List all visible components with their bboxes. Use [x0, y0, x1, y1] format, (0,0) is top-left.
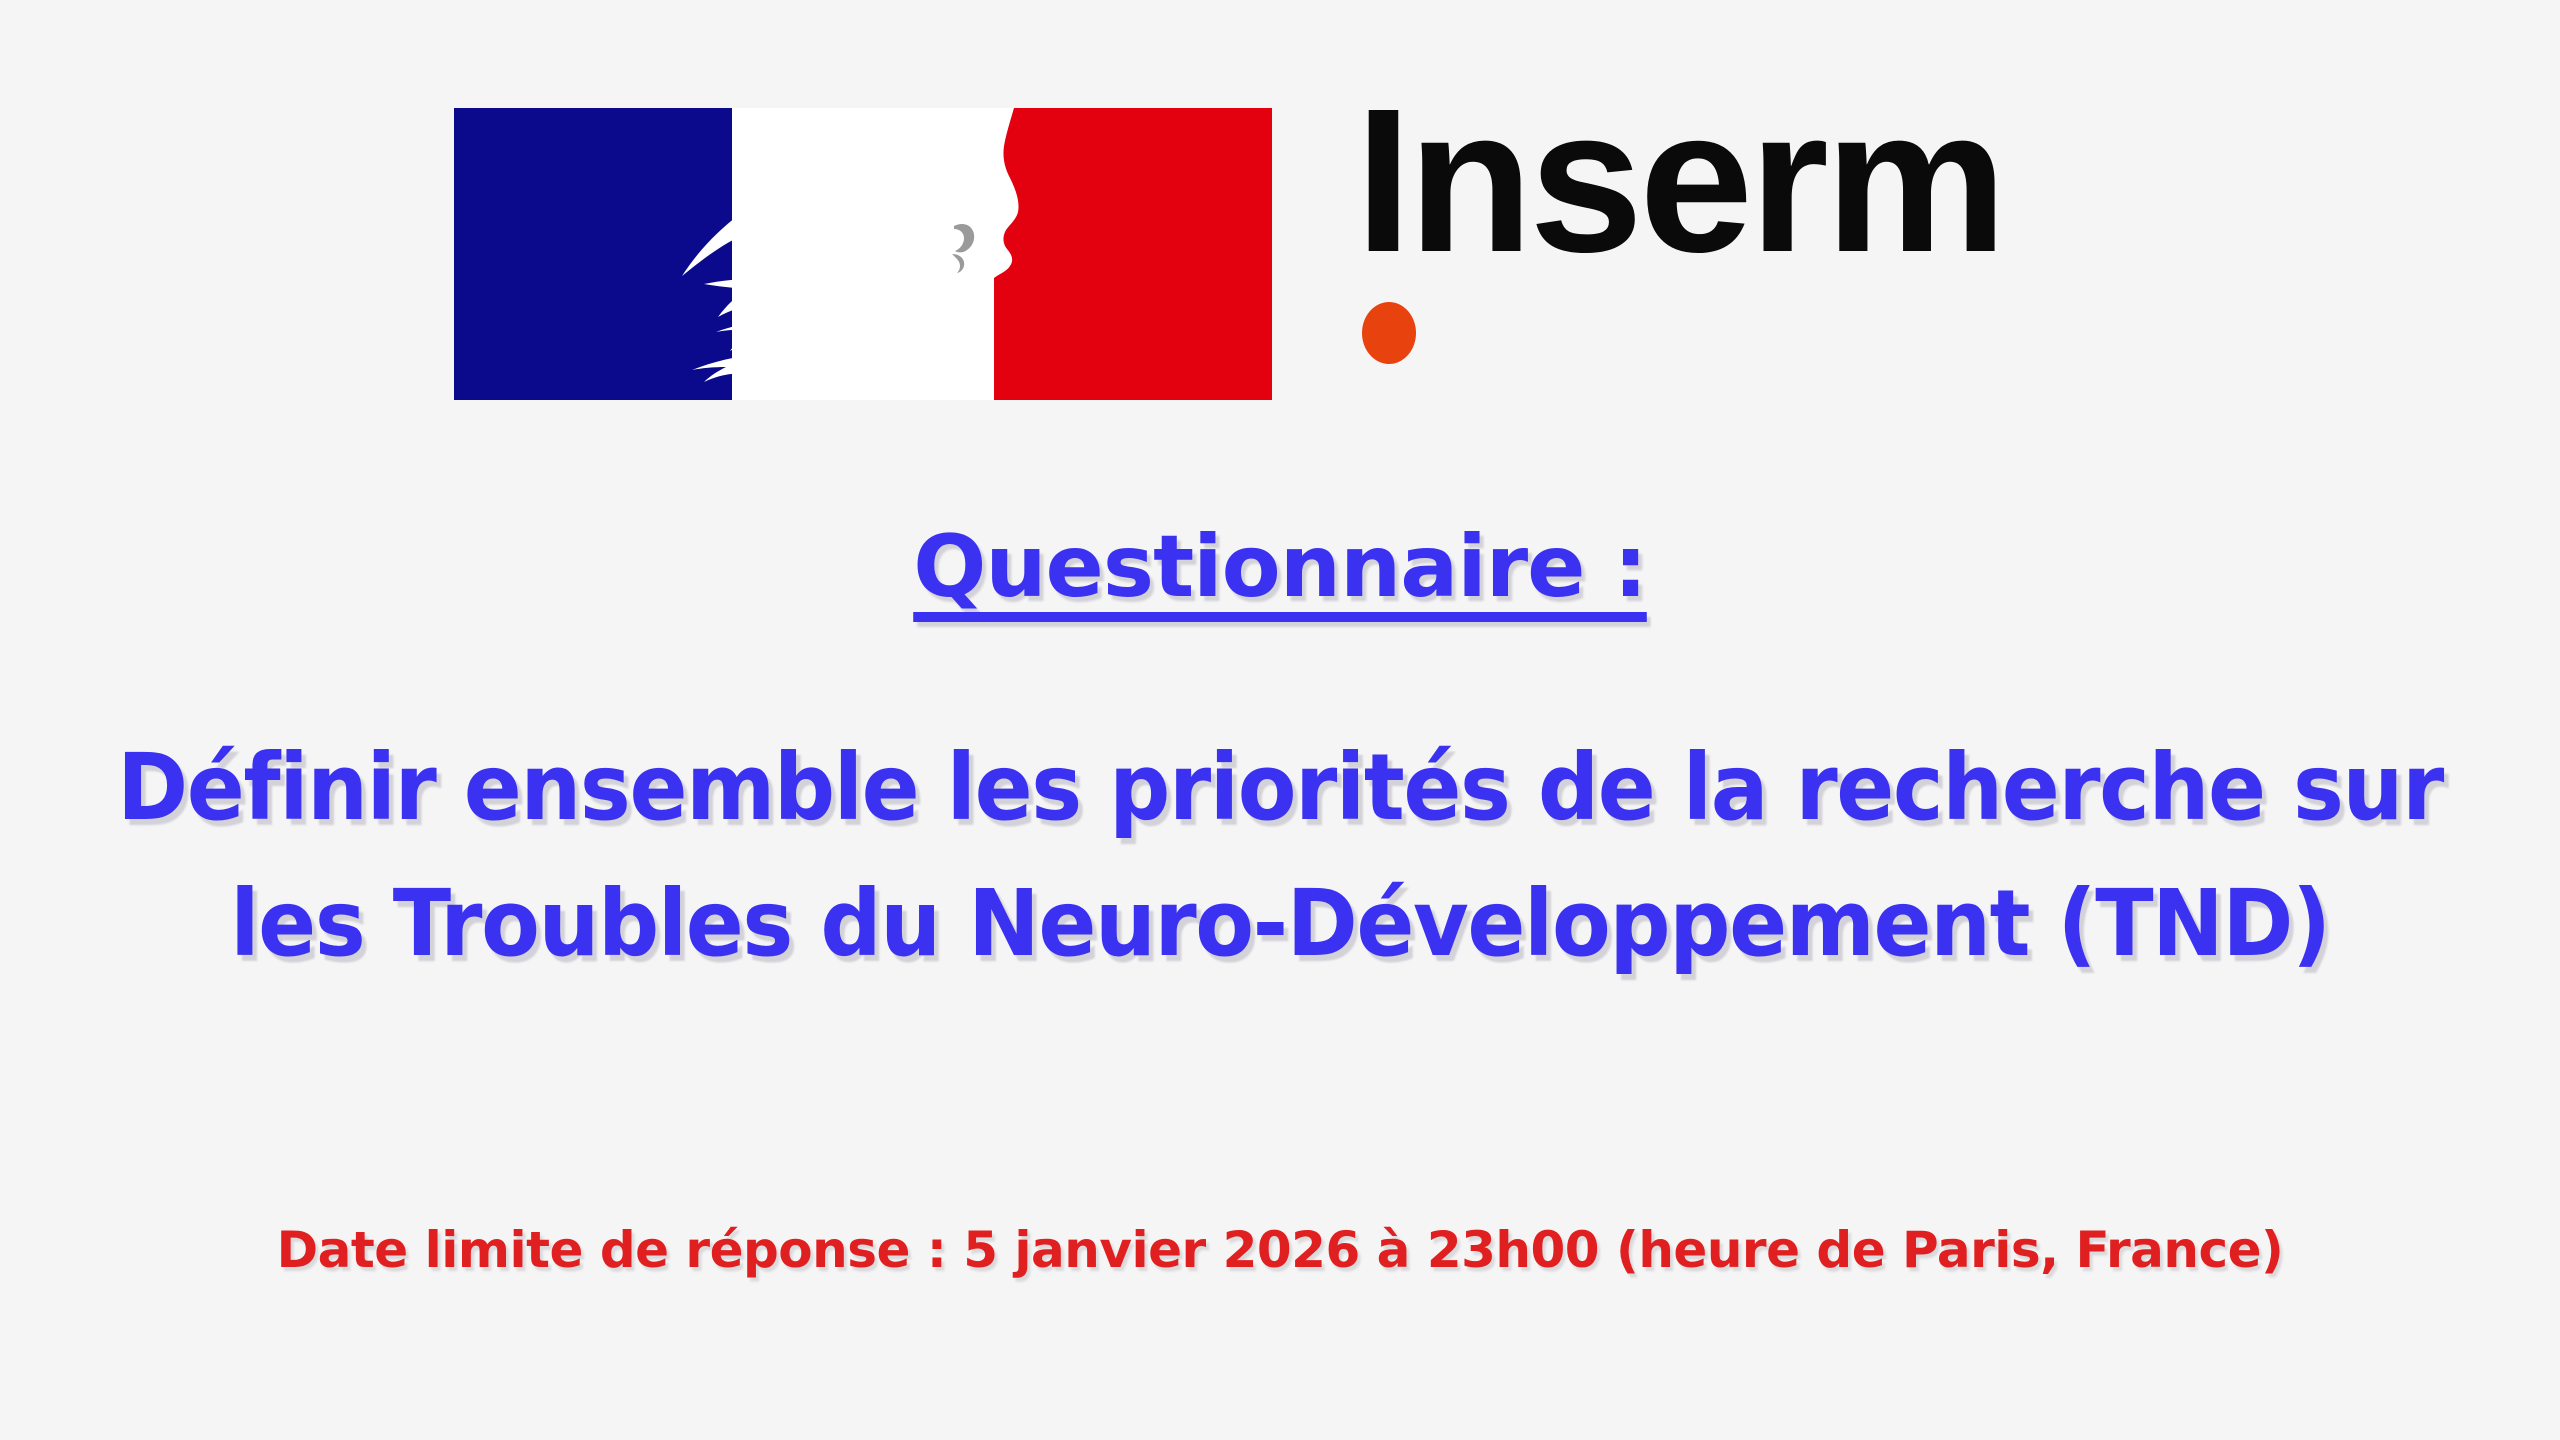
slide-root: Inserm Questionnaire : Définir ensemble …	[0, 0, 2560, 1440]
inserm-wordmark-text: Inserm	[1355, 78, 2003, 283]
deadline-text: Date limite de réponse : 5 janvier 2026 …	[0, 1220, 2560, 1280]
page-title-line-1: Définir ensemble les priorités de la rec…	[90, 720, 2471, 856]
logo-row: Inserm	[0, 100, 2560, 420]
page-title-line-2: les Troubles du Neuro-Développement (TND…	[90, 856, 2471, 992]
questionnaire-label: Questionnaire :	[913, 517, 1647, 617]
page-title: Définir ensemble les priorités de la rec…	[90, 720, 2471, 992]
questionnaire-label-wrap: Questionnaire :	[0, 522, 2560, 612]
inserm-wordmark: Inserm	[1355, 100, 1915, 400]
marianne-silhouette-icon	[454, 108, 1272, 400]
inserm-dot-icon	[1362, 302, 1416, 364]
marianne-logo	[454, 108, 1272, 400]
